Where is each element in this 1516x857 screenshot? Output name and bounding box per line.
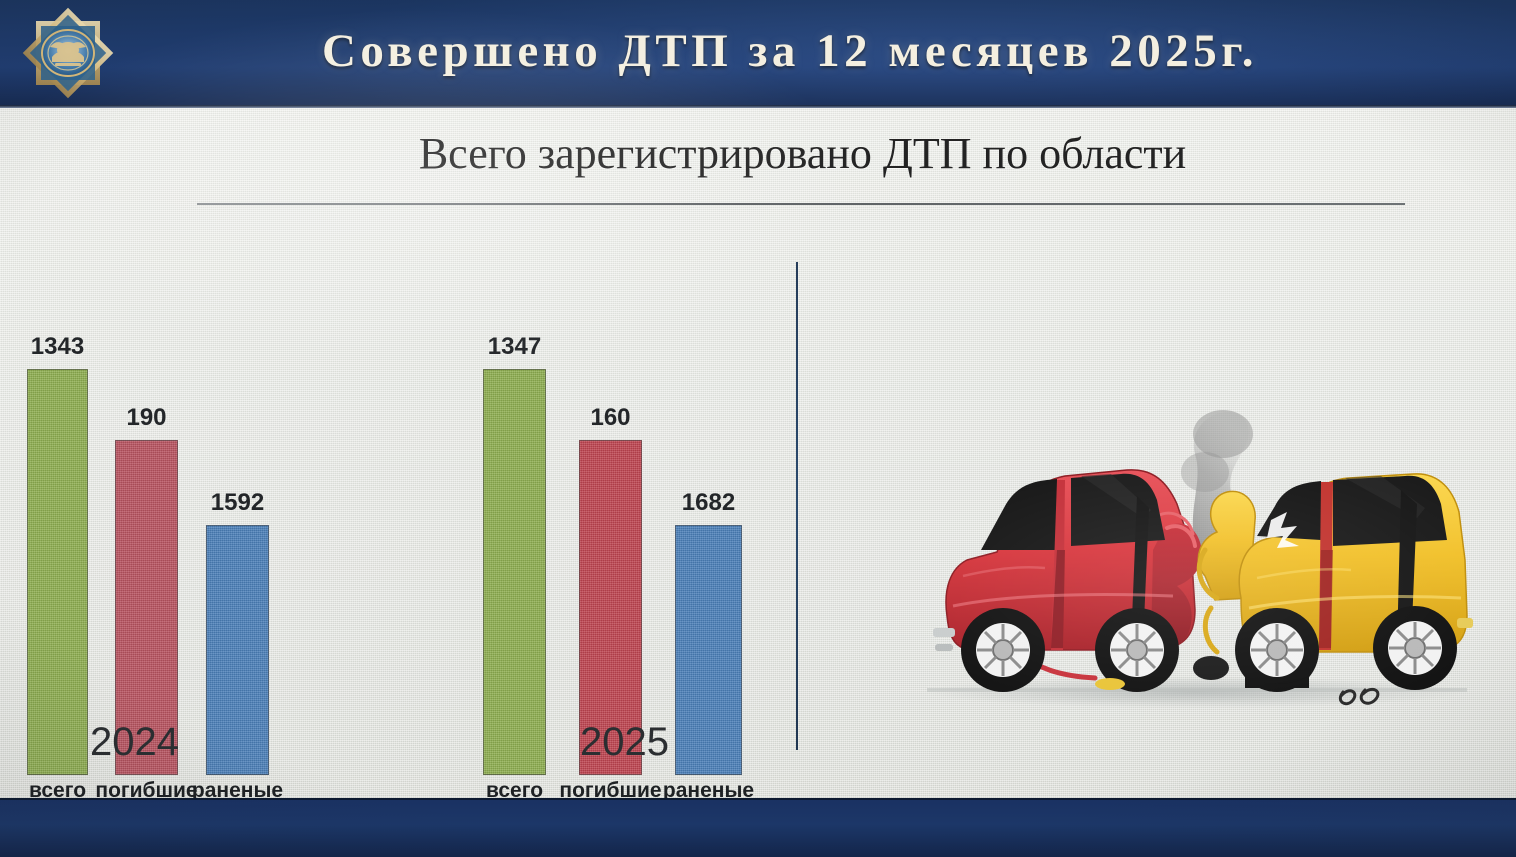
car-crash-illustration bbox=[905, 400, 1485, 710]
bar-rect bbox=[27, 369, 88, 775]
bar-group-2025: 1347 всего 160 погибшие 1682 раненые 202… bbox=[455, 215, 795, 775]
bar-item-2025-ranenye: 1682 раненые bbox=[675, 325, 742, 775]
bar-rect bbox=[483, 369, 546, 775]
header-bottom-edge bbox=[0, 105, 1516, 108]
chart-title: Всего зарегистрировано ДТП по области bbox=[200, 128, 1405, 179]
bar-value-label: 1682 bbox=[682, 489, 735, 517]
bar-item-2025-vsego: 1347 всего bbox=[483, 325, 546, 775]
yellow-car-rear-wheel bbox=[1373, 606, 1457, 690]
group-year-label-2024: 2024 bbox=[90, 720, 179, 765]
bar-value-label: 1343 bbox=[31, 333, 84, 361]
bar-rect bbox=[206, 525, 269, 775]
bar-item-2024-ranenye: 1592 раненые bbox=[206, 325, 269, 775]
bar-item-2024-vsego: 1343 всего bbox=[27, 325, 88, 775]
bar-value-label: 160 bbox=[590, 404, 630, 432]
bar-item-2025-pogibshie: 160 погибшие bbox=[579, 325, 642, 775]
red-car bbox=[933, 470, 1202, 692]
bar-value-label: 190 bbox=[126, 404, 166, 432]
page-title: Совершено ДТП за 12 месяцев 2025г. bbox=[180, 24, 1400, 78]
slide-footer bbox=[0, 798, 1516, 857]
group-year-label-2025: 2025 bbox=[580, 720, 669, 765]
vertical-divider bbox=[796, 262, 798, 750]
footer-top-edge bbox=[0, 798, 1516, 800]
red-car-rear-wheel bbox=[961, 608, 1045, 692]
bar-chart: 1343 всего 190 погибшие 1592 раненые 202… bbox=[0, 215, 800, 775]
yellow-car-front-wheel bbox=[1235, 608, 1319, 692]
bar-value-label: 1347 bbox=[488, 333, 541, 361]
presentation-slide: Совершено ДТП за 12 месяцев 2025г. bbox=[0, 0, 1516, 857]
bar-value-label: 1592 bbox=[211, 489, 264, 517]
bar-item-2024-pogibshie: 190 погибшие bbox=[115, 325, 178, 775]
state-emblem-star-icon bbox=[18, 6, 118, 100]
bar-group-2024: 1343 всего 190 погибшие 1592 раненые 202… bbox=[0, 215, 340, 775]
slide-header: Совершено ДТП за 12 месяцев 2025г. bbox=[0, 0, 1516, 108]
title-divider bbox=[197, 203, 1405, 205]
bar-rect bbox=[675, 525, 742, 775]
